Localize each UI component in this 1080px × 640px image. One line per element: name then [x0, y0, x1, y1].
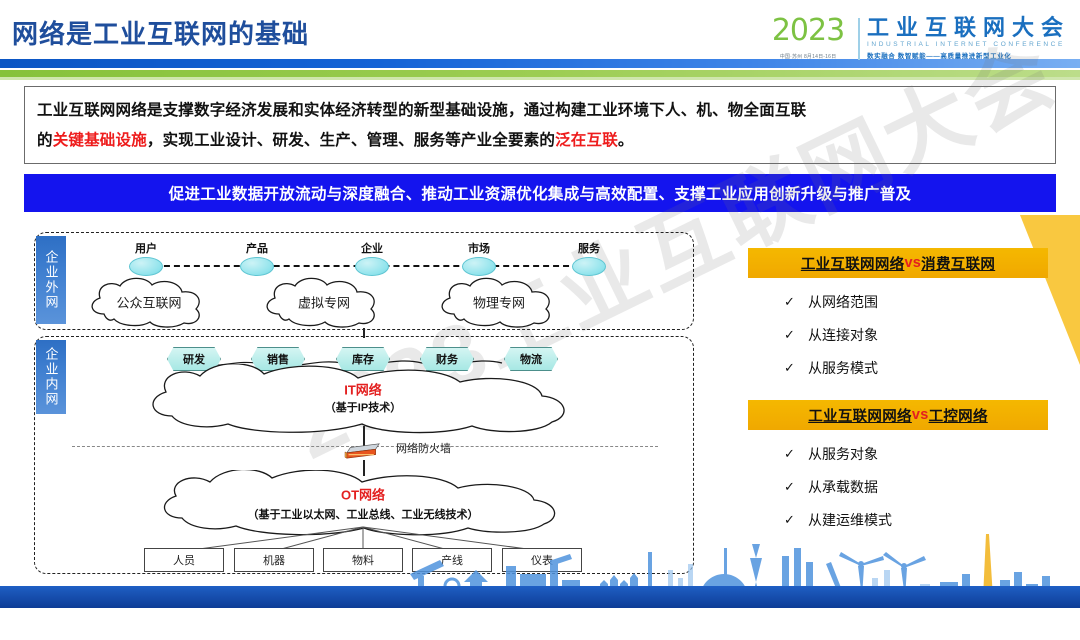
- panel-2-title-a: 工业互联网网络: [808, 405, 912, 426]
- panel-1-list: ✓ 从网络范围 ✓ 从连接对象 ✓ 从服务模式: [748, 292, 1048, 378]
- network-architecture-diagram: 企业外网 企业内网 用户 产品 企业 市场 服务 公众互联网 虚拟专网 物理专网: [24, 228, 714, 578]
- check-icon: ✓: [784, 446, 796, 462]
- outer-inner-link: [363, 328, 365, 338]
- logo-year-block: 2023 中国·苏州 8月14日-16日: [760, 16, 856, 60]
- panel-1-item-2: 从服务模式: [808, 358, 878, 378]
- panel-2-vs: vs: [912, 407, 929, 423]
- header-green-rule-light: [0, 77, 1080, 80]
- logo-name-en: INDUSTRIAL INTERNET CONFERENCE: [867, 41, 1072, 48]
- comparison-panel-consumer-internet: 工业互联网网络vs消费互联网 ✓ 从网络范围 ✓ 从连接对象 ✓ 从服务模式: [748, 248, 1048, 391]
- end-node-1: 机器: [234, 548, 314, 572]
- it-network-subtitle: （基于IP技术）: [325, 399, 401, 415]
- ot-network-subtitle: （基于工业以太网、工业总线、工业无线技术）: [248, 506, 479, 522]
- key-message-banner: 促进工业数据开放流动与深度融合、推动工业资源优化集成与高效配置、支撑工业应用创新…: [24, 174, 1056, 212]
- external-network-label: 企业外网: [36, 236, 66, 324]
- end-node-3: 产线: [412, 548, 492, 572]
- panel-1-header: 工业互联网网络vs消费互联网: [748, 248, 1048, 278]
- logo-divider: [858, 18, 860, 60]
- panel-2-item-1: 从承载数据: [808, 477, 878, 497]
- panel-1-vs: vs: [904, 255, 921, 271]
- list-item: ✓ 从服务模式: [784, 358, 1048, 378]
- intro-text-1: 工业互联网网络是支撑数字经济发展和实体经济转型的新型基础设施，通过构建工业环境下…: [37, 102, 806, 119]
- list-item: ✓ 从服务对象: [784, 444, 1048, 464]
- intro-text-3: ，实现工业设计、研发、生产、管理、服务等产业全要素的: [147, 132, 555, 149]
- check-icon: ✓: [784, 327, 796, 343]
- intro-text-2: 的: [37, 132, 53, 149]
- top-node-label-2: 企业: [361, 240, 383, 256]
- external-cloud-label-1: 虚拟专网: [298, 293, 350, 312]
- firewall-icon: [342, 442, 384, 460]
- panel-2-header: 工业互联网网络vs工控网络: [748, 400, 1048, 430]
- slide-root: 网络是工业互联网的基础 2023 中国·苏州 8月14日-16日 工业互联网大会…: [0, 0, 1080, 608]
- panel-1-item-1: 从连接对象: [808, 325, 878, 345]
- internal-network-label: 企业内网: [36, 340, 66, 414]
- top-node-icon-3: [462, 257, 496, 276]
- list-item: ✓ 从承载数据: [784, 477, 1048, 497]
- top-node-label-1: 产品: [246, 240, 268, 256]
- panel-1-title-b: 消费互联网: [921, 253, 995, 274]
- top-node-label-4: 服务: [578, 240, 600, 256]
- intro-paragraph-line-2: 的关键基础设施，实现工业设计、研发、生产、管理、服务等产业全要素的泛在互联。: [37, 126, 1043, 156]
- conference-logo: 2023 中国·苏州 8月14日-16日 工业互联网大会 INDUSTRIAL …: [760, 16, 1072, 76]
- end-node-2: 物料: [323, 548, 403, 572]
- comparison-panel-industrial-control: 工业互联网网络vs工控网络 ✓ 从服务对象 ✓ 从承载数据 ✓ 从建运维模式: [748, 400, 1048, 543]
- external-cloud-label-0: 公众互联网: [116, 293, 181, 312]
- external-cloud-label-2: 物理专网: [473, 293, 525, 312]
- page-title: 网络是工业互联网的基础: [12, 14, 309, 51]
- check-icon: ✓: [784, 512, 796, 528]
- firewall-label: 网络防火墙: [396, 440, 451, 456]
- intro-paragraph-line-1: 工业互联网网络是支撑数字经济发展和实体经济转型的新型基础设施，通过构建工业环境下…: [37, 96, 1043, 126]
- top-node-icon-1: [240, 257, 274, 276]
- list-item: ✓ 从建运维模式: [784, 510, 1048, 530]
- check-icon: ✓: [784, 360, 796, 376]
- top-node-label-0: 用户: [135, 240, 157, 256]
- panel-2-item-2: 从建运维模式: [808, 510, 892, 530]
- top-node-icon-2: [355, 257, 389, 276]
- logo-year-text: 2023: [760, 16, 856, 46]
- top-node-label-3: 市场: [468, 240, 490, 256]
- check-icon: ✓: [784, 479, 796, 495]
- key-message-text: 促进工业数据开放流动与深度融合、推动工业资源优化集成与高效配置、支撑工业应用创新…: [169, 182, 912, 204]
- end-node-0: 人员: [144, 548, 224, 572]
- top-node-icon-4: [572, 257, 606, 276]
- panel-2-list: ✓ 从服务对象 ✓ 从承载数据 ✓ 从建运维模式: [748, 444, 1048, 530]
- end-node-4: 仪表: [502, 548, 582, 572]
- logo-date-text: 中国·苏州 8月14日-16日: [760, 53, 856, 60]
- intro-highlight-2: 泛在互联: [555, 132, 618, 149]
- list-item: ✓ 从连接对象: [784, 325, 1048, 345]
- logo-main-block: 工业互联网大会 INDUSTRIAL INTERNET CONFERENCE 数…: [867, 16, 1072, 60]
- logo-subtitle: 数实融合 数智赋能——高质量推进新型工业化: [867, 50, 1072, 60]
- intro-highlight-1: 关键基础设施: [53, 132, 147, 149]
- top-node-icon-0: [129, 257, 163, 276]
- panel-2-item-0: 从服务对象: [808, 444, 878, 464]
- check-icon: ✓: [784, 294, 796, 310]
- panel-1-item-0: 从网络范围: [808, 292, 878, 312]
- intro-text-4: 。: [618, 132, 634, 149]
- logo-name-cn: 工业互联网大会: [867, 16, 1072, 39]
- intro-paragraph-box: 工业互联网网络是支撑数字经济发展和实体经济转型的新型基础设施，通过构建工业环境下…: [24, 86, 1056, 164]
- panel-2-title-b: 工控网络: [929, 405, 988, 426]
- it-network-title: IT网络: [344, 380, 382, 399]
- ot-network-title: OT网络: [341, 485, 385, 504]
- list-item: ✓ 从网络范围: [784, 292, 1048, 312]
- panel-1-title-a: 工业互联网网络: [801, 253, 905, 274]
